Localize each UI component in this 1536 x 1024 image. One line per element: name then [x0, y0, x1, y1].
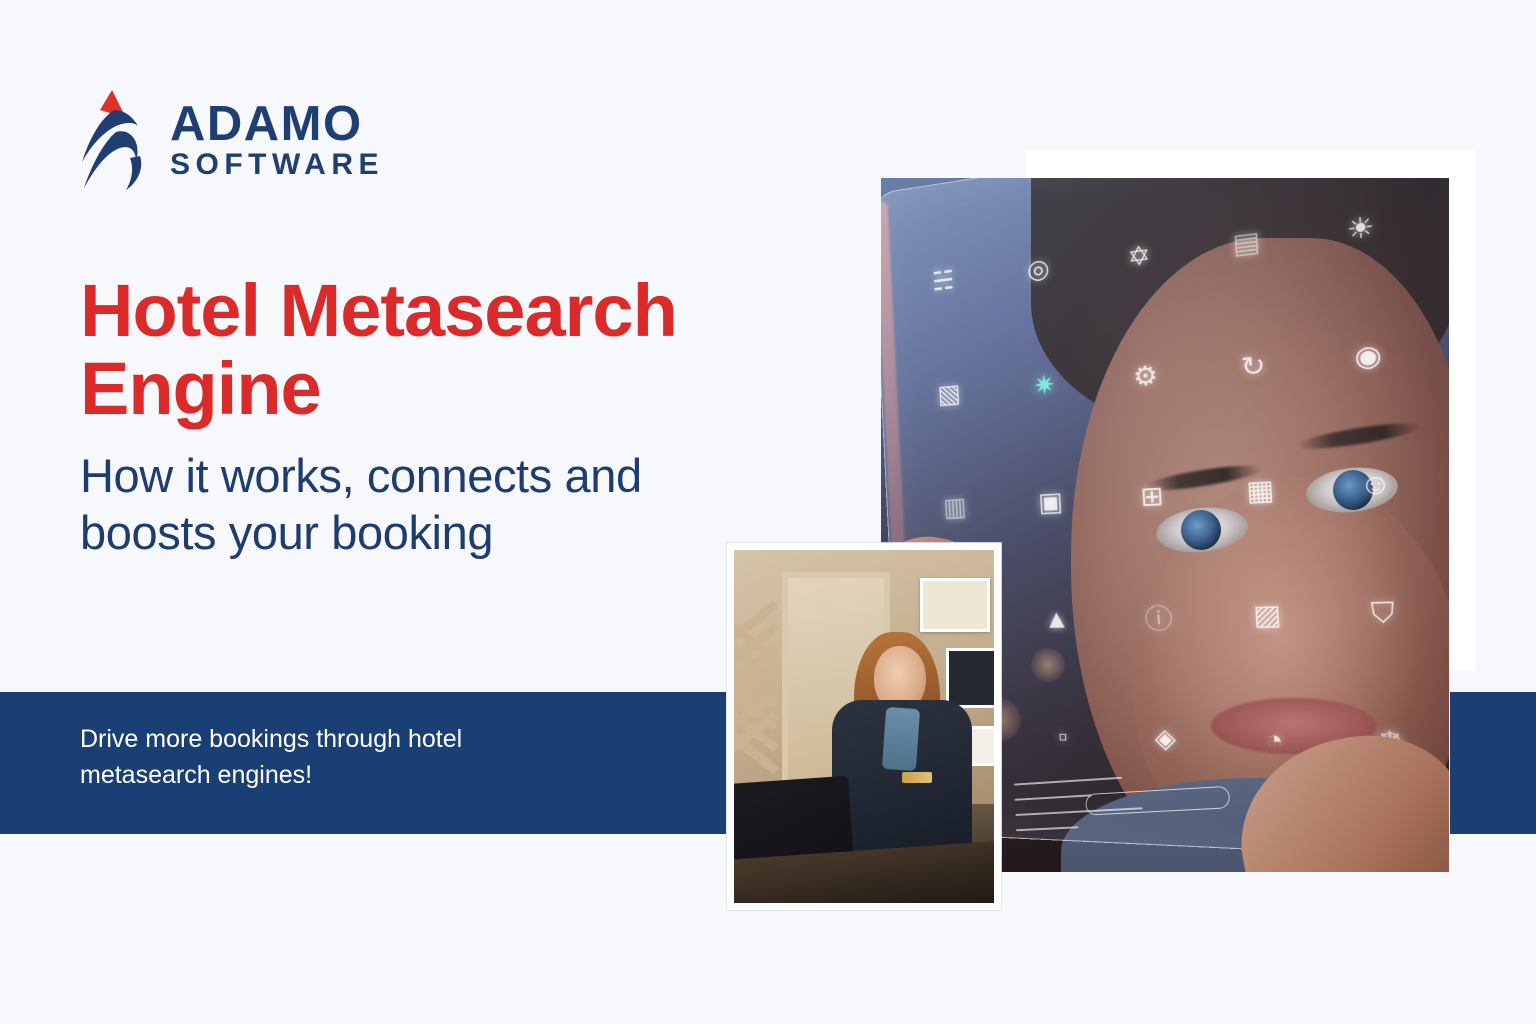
- bank-icon[interactable]: ▲: [1005, 559, 1110, 678]
- logo-wordmark: ADAMO SOFTWARE: [170, 102, 384, 179]
- contact-icon[interactable]: ⓘ: [1104, 555, 1216, 678]
- clipboard-icon[interactable]: ▧: [901, 333, 999, 454]
- user-card-icon[interactable]: ☺: [1313, 416, 1440, 551]
- shield-icon[interactable]: ⛉: [1320, 547, 1447, 678]
- folder-icon[interactable]: ▣: [999, 440, 1104, 562]
- cta-banner-text: Drive more bookings through hotel metase…: [80, 722, 680, 793]
- hero-text-block: Hotel Metasearch Engine How it works, co…: [80, 272, 820, 562]
- cta-banner-accent-block: [1450, 692, 1536, 834]
- target-icon[interactable]: ◉: [1306, 286, 1432, 425]
- receptionist-name-badge: [902, 772, 932, 783]
- poster-canvas: ADAMO SOFTWARE Hotel Metasearch Engine H…: [0, 0, 1536, 1024]
- newspaper-icon[interactable]: ▤: [1188, 178, 1306, 311]
- desk-wall-frame: [946, 648, 994, 708]
- adamo-software-logo[interactable]: ADAMO SOFTWARE: [78, 88, 384, 192]
- adamo-arrow-logo-icon: [78, 88, 150, 192]
- refresh-icon[interactable]: ↻: [1195, 299, 1313, 433]
- reception-photo: [734, 550, 994, 903]
- logo-primary-word: ADAMO: [170, 102, 384, 147]
- gear-sun-icon[interactable]: ☀: [1299, 178, 1424, 299]
- cta-banner: Drive more bookings through hotel metase…: [0, 692, 726, 834]
- logo-secondary-word: SOFTWARE: [170, 151, 384, 179]
- reception-photo-frame: [727, 543, 1001, 910]
- page-title: Hotel Metasearch Engine: [80, 272, 820, 429]
- form-icon[interactable]: ▦: [1202, 425, 1321, 555]
- map-pin-icon[interactable]: ◎: [987, 204, 1091, 332]
- receipt-icon[interactable]: ▨: [1209, 551, 1328, 678]
- page-subtitle: How it works, connects and boosts your b…: [80, 447, 820, 562]
- compass-icon[interactable]: ✡: [1085, 189, 1195, 322]
- network-icon[interactable]: ⚙: [1091, 311, 1202, 440]
- chart-icon[interactable]: ☵: [895, 218, 993, 342]
- spark-icon[interactable]: ✷: [993, 322, 1097, 447]
- calendar-icon[interactable]: ⊞: [1097, 433, 1208, 559]
- receptionist-scarf: [882, 707, 920, 771]
- desk-wall-frame: [920, 578, 990, 632]
